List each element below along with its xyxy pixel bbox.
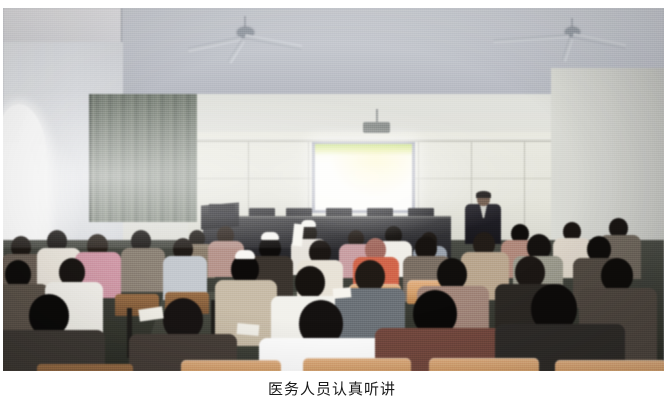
audience-head <box>295 266 325 298</box>
seat-back <box>429 358 539 371</box>
seat-back <box>181 360 281 371</box>
fan-blade <box>493 34 569 43</box>
ceiling-fan-left <box>189 16 305 66</box>
fan-blade <box>572 33 626 49</box>
seat-back <box>37 364 133 371</box>
paper-sheet <box>333 287 352 299</box>
ceiling-soffit <box>3 8 121 44</box>
laptop <box>209 204 235 218</box>
projection-screen <box>315 144 412 210</box>
ceiling-projector <box>363 122 390 133</box>
lecture-hall-photograph <box>3 8 664 371</box>
seat-back <box>303 358 411 371</box>
audience-head <box>601 258 633 292</box>
nurse-cap <box>261 232 279 240</box>
nurse-cap <box>235 250 255 259</box>
seat-back <box>555 360 664 371</box>
curtain-edge <box>89 94 92 222</box>
presenter-hair <box>476 191 491 198</box>
caption-text: 医务人员认真听讲 <box>268 378 396 399</box>
fan-blade <box>561 38 573 62</box>
audience-body <box>121 248 165 292</box>
photo-caption: 医务人员认真听讲 <box>0 373 664 403</box>
page-root: 医务人员认真听讲 <box>0 0 664 403</box>
ceiling-fan-right <box>495 18 627 68</box>
fan-blade <box>245 34 303 50</box>
paper-sheet <box>237 323 260 336</box>
window-curtain <box>89 94 197 222</box>
photo-scene <box>3 8 664 371</box>
